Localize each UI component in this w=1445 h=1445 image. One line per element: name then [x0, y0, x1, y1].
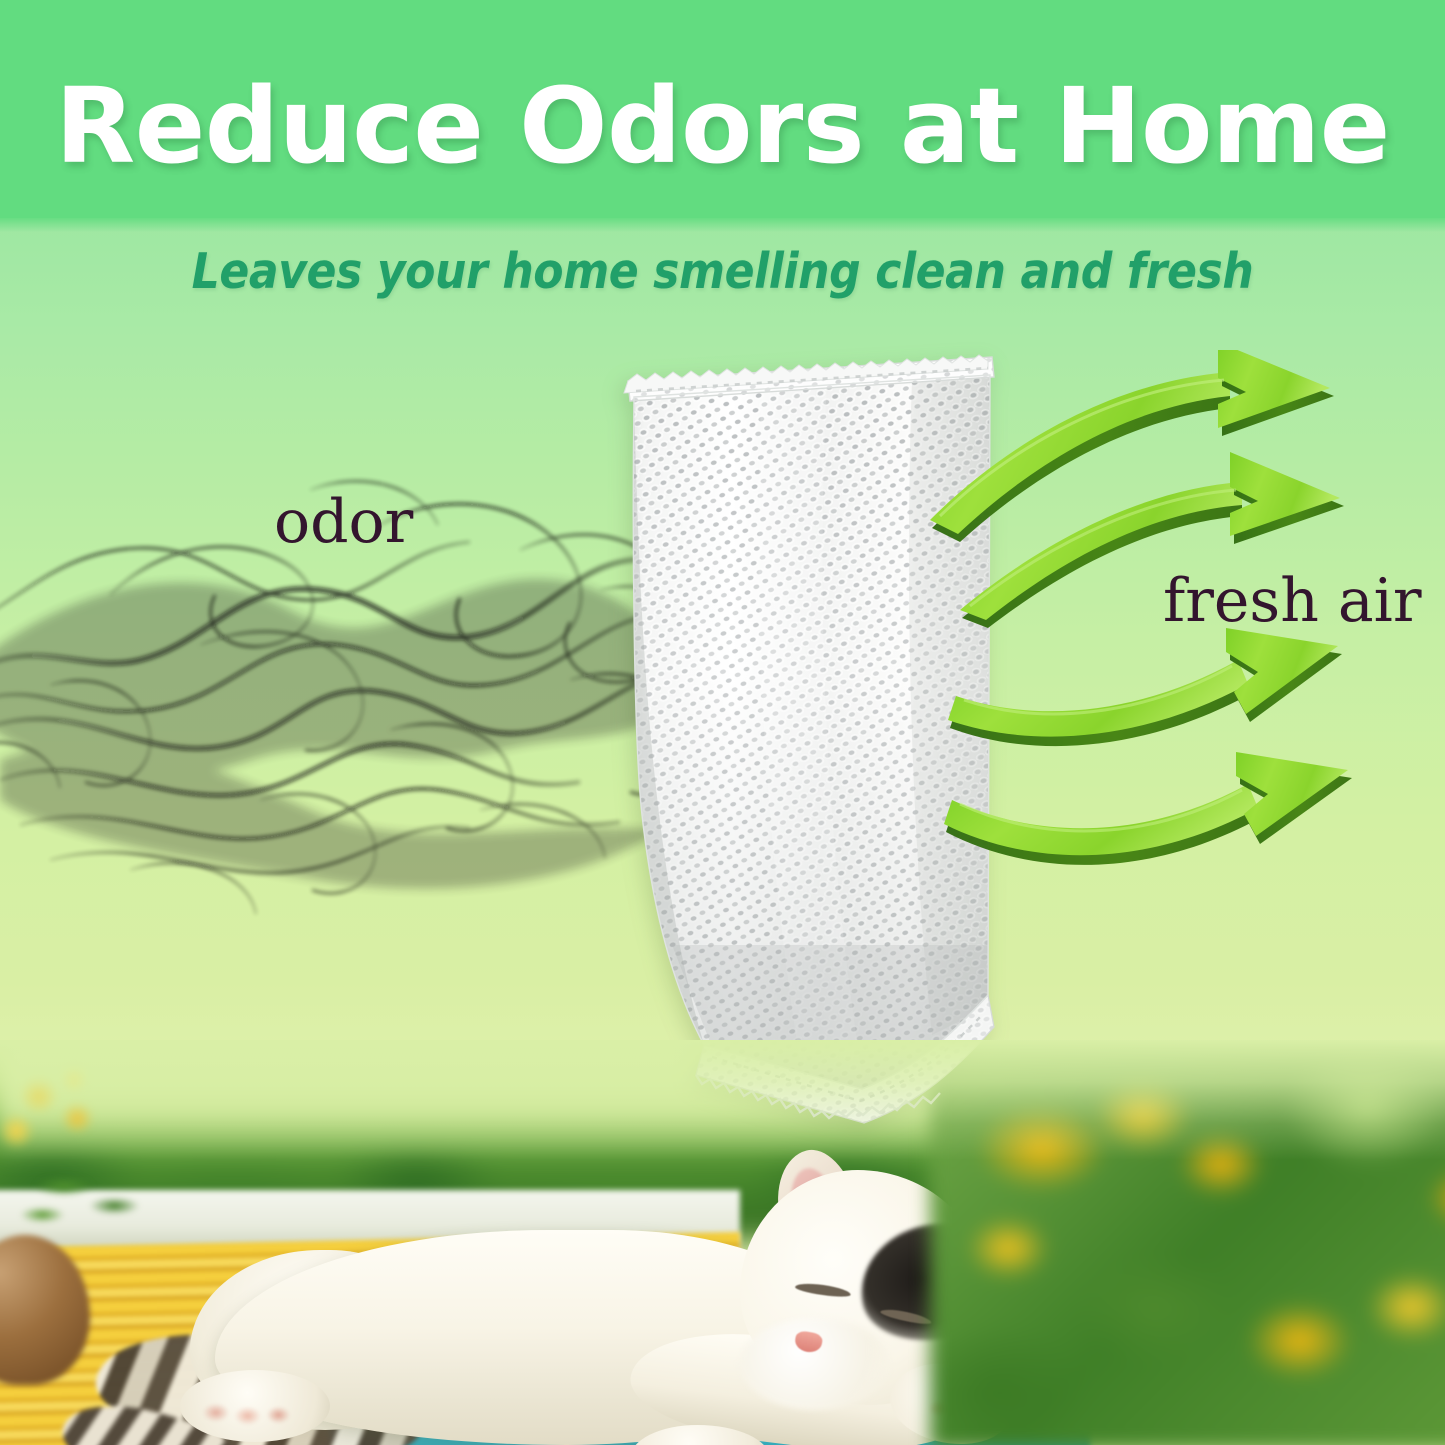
arrow-4	[944, 752, 1352, 865]
cat-toe-pads-rear	[200, 1392, 306, 1438]
sleeping-cat-photo	[0, 1040, 1445, 1445]
cat-muzzle	[740, 1318, 890, 1410]
leaf-sprig-left	[10, 1150, 190, 1240]
page-title: Reduce Odors at Home	[0, 74, 1445, 178]
photo-top-fade	[0, 1040, 1445, 1160]
product-poster: odor fresh air Reduce Odors at Home Leav…	[0, 0, 1445, 1445]
cat-toe-pads-lower	[655, 1440, 755, 1445]
page-subtitle: Leaves your home smelling clean and fres…	[0, 243, 1445, 300]
arrow-3	[948, 628, 1342, 746]
odor-label: odor	[274, 492, 413, 552]
fresh-air-label: fresh air	[1163, 571, 1422, 631]
